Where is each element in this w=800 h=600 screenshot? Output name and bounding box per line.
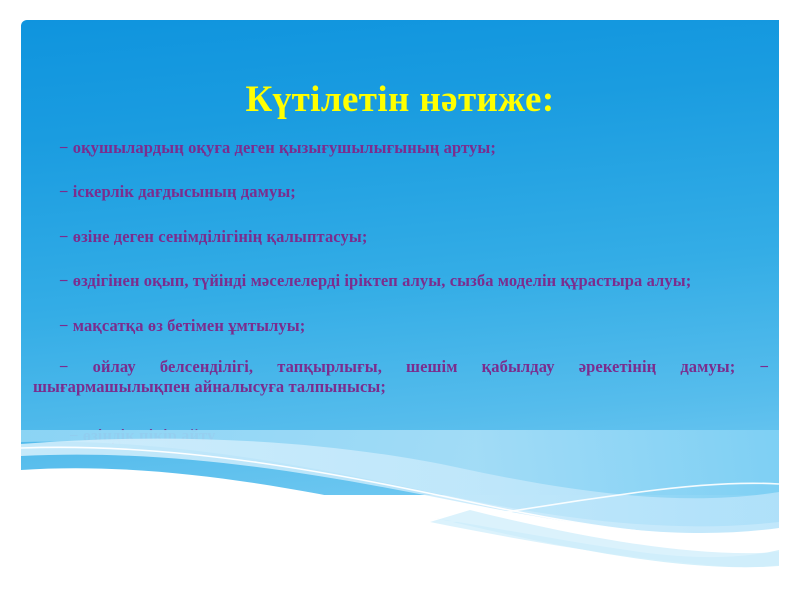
- list-item: − ойлау белсенділігі, тапқырлығы, шешім …: [33, 357, 769, 396]
- page-title: Күтілетін нәтиже:: [21, 80, 779, 121]
- wave-band-pale-lower: [330, 504, 779, 584]
- list-item: − өздігінен оқып, түйінді мәселелерді ір…: [33, 271, 769, 290]
- list-item: − іскерлік дағдысының дамуы;: [33, 182, 769, 201]
- list-item: − оқушылардың оқуға деген қызығушылығыны…: [33, 138, 769, 157]
- presentation-slide: Күтілетін нәтиже: − оқушылардың оқуға де…: [0, 0, 800, 600]
- slide-content-panel: Күтілетін нәтиже: − оқушылардың оқуға де…: [21, 20, 779, 495]
- list-item: − өзіндік пікір айту: [33, 426, 769, 445]
- wave-hairline-c: [280, 506, 779, 570]
- list-item: − мақсатқа өз бетімен ұмтылуы;: [33, 316, 769, 335]
- list-item: − өзіне деген сенімділігінің қалыптасуы;: [33, 227, 769, 246]
- wave-residual-arc: [430, 510, 779, 567]
- outcomes-list: − оқушылардың оқуға деген қызығушылығыны…: [33, 138, 769, 446]
